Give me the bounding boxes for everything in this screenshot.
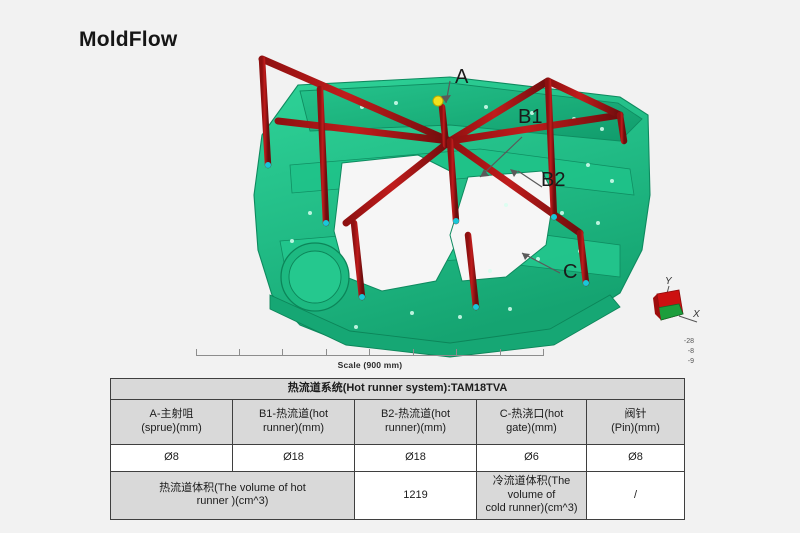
value-b2-runner: Ø18 — [355, 444, 477, 471]
table-row-title: 热流道系统(Hot runner system):TAM18TVA — [111, 379, 685, 400]
header-line2: runner)(mm) — [385, 422, 446, 434]
model-viewport[interactable]: A B1 B2 C — [150, 45, 670, 375]
table-row-headers: A-主射咀 (sprue)(mm) B1-热流道(hot runner)(mm)… — [111, 399, 685, 444]
header-line2: (sprue)(mm) — [141, 422, 202, 434]
column-header-b1-hot-runner: B1-热流道(hot runner)(mm) — [233, 399, 355, 444]
header-line2: runner)(mm) — [263, 422, 324, 434]
axis-value-2: -9 — [668, 357, 694, 367]
header-line1: A-主射咀 — [150, 408, 194, 420]
header-line1: B2-热流道(hot — [381, 408, 450, 420]
callout-label-c: C — [563, 262, 577, 282]
column-header-c-hot-gate: C-热浇口(hot gate)(mm) — [477, 399, 587, 444]
scale-ruler — [196, 344, 544, 356]
value-pin: Ø8 — [587, 444, 685, 471]
table-title: 热流道系统(Hot runner system):TAM18TVA — [111, 379, 685, 400]
header-line2: gate)(mm) — [506, 422, 557, 434]
page-root: MoldFlow — [0, 0, 800, 533]
axis-label-x: X — [693, 309, 700, 320]
axis-value-0: -28 — [668, 337, 694, 347]
label-hot-runner-volume: 热流道体积(The volume of hot runner )(cm^3) — [111, 471, 355, 519]
scale-bar: Scale (900 mm) — [196, 344, 544, 370]
header-line1: C-热浇口(hot — [500, 408, 564, 420]
column-header-pin: 阀针 (Pin)(mm) — [587, 399, 685, 444]
sprue-marker-icon — [433, 96, 443, 106]
axis-triad-widget[interactable]: Y X — [645, 278, 707, 336]
label-cold-runner-volume: 冷流道体积(The volume of cold runner)(cm^3) — [477, 471, 587, 519]
axis-triad-values: -28 -8 -9 — [668, 337, 694, 367]
callout-label-a: A — [455, 67, 468, 87]
callout-label-b1: B1 — [518, 107, 542, 127]
callout-label-b2: B2 — [541, 170, 565, 190]
label-line2: runner )(cm^3) — [197, 495, 269, 507]
column-header-sprue: A-主射咀 (sprue)(mm) — [111, 399, 233, 444]
header-line2: (Pin)(mm) — [611, 422, 660, 434]
value-sprue: Ø8 — [111, 444, 233, 471]
label-line1: 冷流道体积(The volume of — [493, 475, 571, 501]
value-cold-runner-volume: / — [587, 471, 685, 519]
axis-value-1: -8 — [668, 347, 694, 357]
axis-triad-icon — [645, 278, 707, 336]
label-line2: cold runner)(cm^3) — [486, 502, 578, 514]
table-row-values: Ø8 Ø18 Ø18 Ø6 Ø8 — [111, 444, 685, 471]
header-line1: B1-热流道(hot — [259, 408, 328, 420]
value-hot-runner-volume: 1219 — [355, 471, 477, 519]
model-svg — [150, 45, 670, 375]
label-line1: 热流道体积(The volume of hot — [159, 482, 306, 494]
table-row-footer: 热流道体积(The volume of hot runner )(cm^3) 1… — [111, 471, 685, 519]
column-header-b2-hot-runner: B2-热流道(hot runner)(mm) — [355, 399, 477, 444]
hot-runner-table: 热流道系统(Hot runner system):TAM18TVA A-主射咀 … — [110, 378, 684, 520]
header-line1: 阀针 — [625, 408, 647, 420]
axis-label-y: Y — [665, 276, 672, 287]
scale-caption: Scale (900 mm) — [196, 360, 544, 370]
value-c-gate: Ø6 — [477, 444, 587, 471]
value-b1-runner: Ø18 — [233, 444, 355, 471]
